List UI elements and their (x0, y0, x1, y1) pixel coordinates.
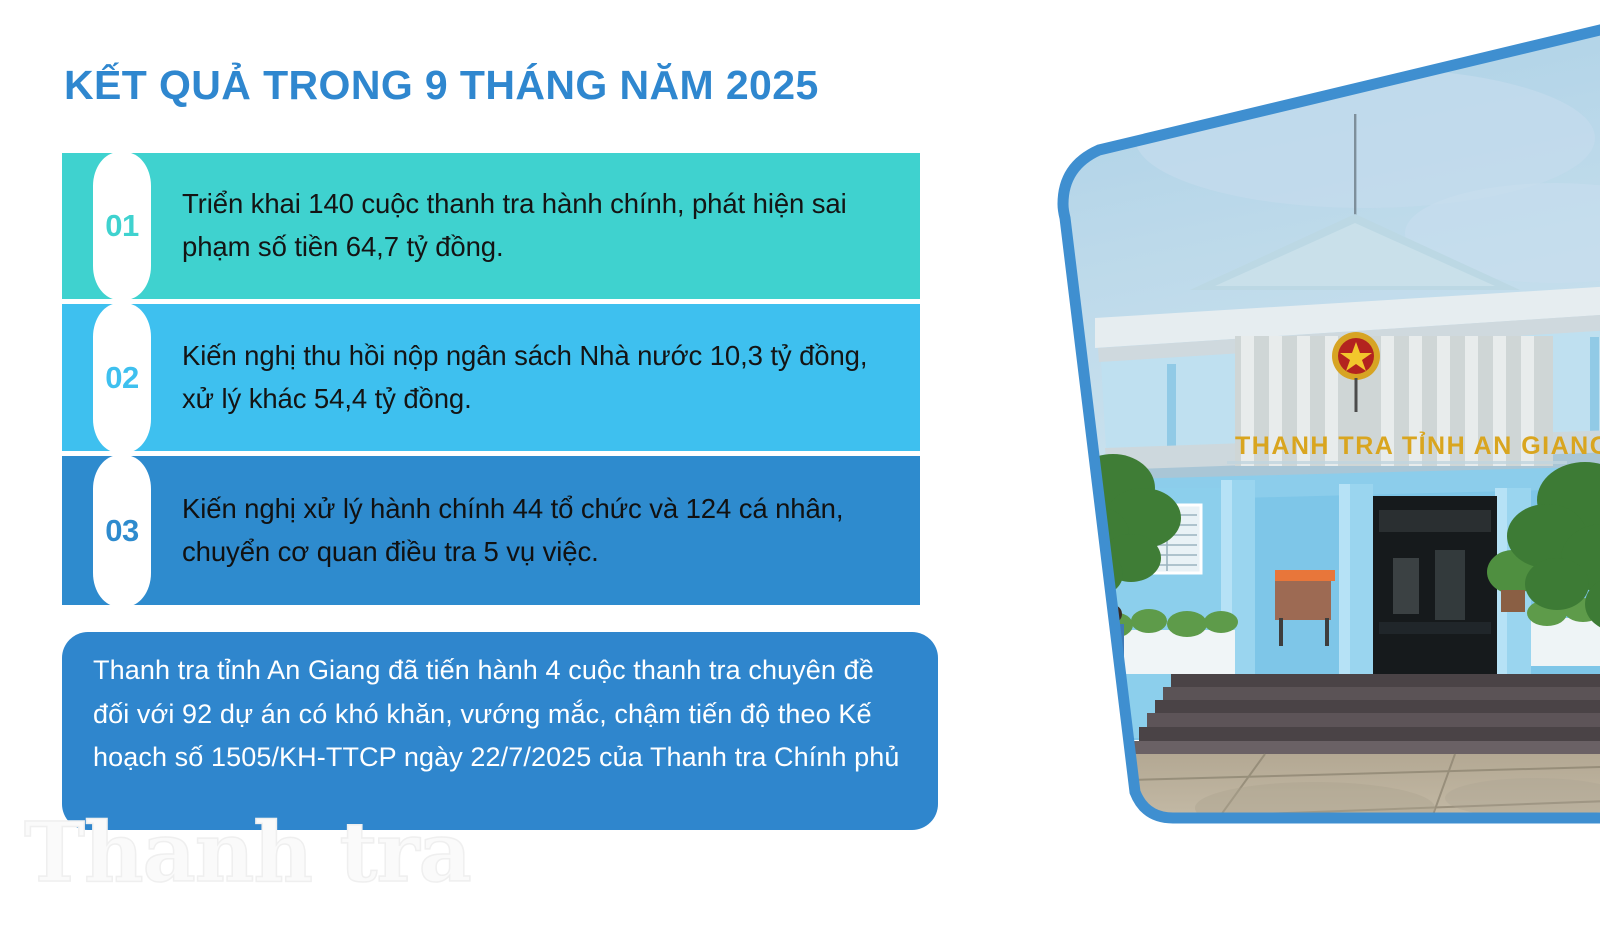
result-row-02: 02 Kiến nghị thu hồi nộp ngân sách Nhà n… (62, 304, 920, 451)
result-text-01: Triển khai 140 cuộc thanh tra hành chính… (182, 183, 898, 268)
note-text: Thanh tra tỉnh An Giang đã tiến hành 4 c… (93, 649, 910, 780)
result-row-03: 03 Kiến nghị xử lý hành chính 44 tổ chức… (62, 456, 920, 605)
result-number-badge-03: 03 (93, 455, 151, 607)
result-number-badge-02: 02 (93, 303, 151, 453)
result-text-02: Kiến nghị thu hồi nộp ngân sách Nhà nước… (182, 335, 898, 420)
infographic-canvas: KẾT QUẢ TRONG 9 THÁNG NĂM 2025 01 Triển … (0, 0, 1600, 935)
result-number-label: 03 (105, 513, 138, 549)
building-sign-text: THANH TRA TỈNH AN GIANG (1235, 430, 1600, 460)
result-number-badge-01: 01 (93, 152, 151, 300)
result-number-label: 02 (105, 360, 138, 396)
page-title: KẾT QUẢ TRONG 9 THÁNG NĂM 2025 (64, 62, 819, 109)
result-number-label: 01 (105, 208, 138, 244)
note-box: Thanh tra tỉnh An Giang đã tiến hành 4 c… (62, 632, 938, 830)
photo-panel: THANH TRA TỈNH AN GIANG (935, 18, 1600, 853)
watermark-thanh-tra: Thanh tra (24, 812, 471, 894)
result-text-03: Kiến nghị xử lý hành chính 44 tổ chức và… (182, 488, 898, 573)
building-photo: THANH TRA TỈNH AN GIANG (935, 18, 1600, 853)
result-row-01: 01 Triển khai 140 cuộc thanh tra hành ch… (62, 153, 920, 299)
